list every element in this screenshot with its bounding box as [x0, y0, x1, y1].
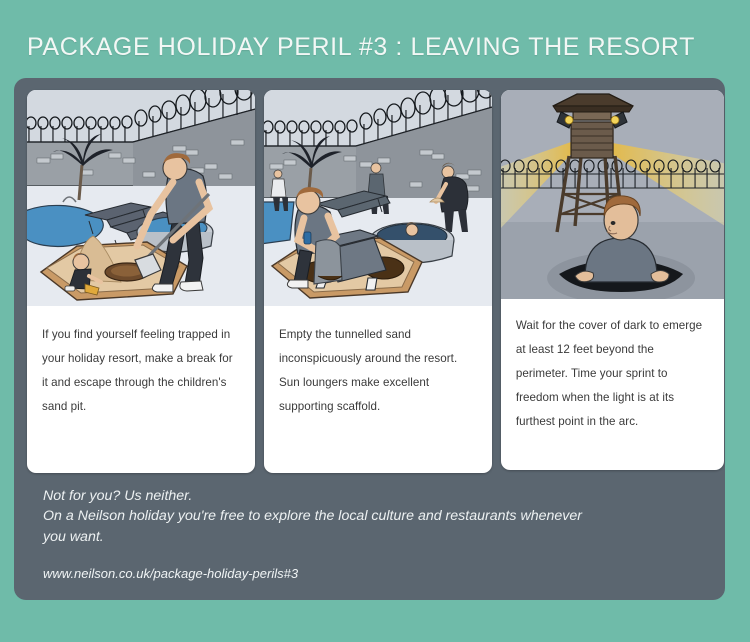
panel-cards-row: If you find yourself feeling trapped in … [27, 90, 724, 473]
card-caption: If you find yourself feeling trapped in … [27, 306, 255, 429]
illustration-emptying-tunnelled-sand-around-resort [264, 90, 492, 306]
comic-card-3[interactable]: Wait for the cover of dark to emerge at … [501, 90, 724, 470]
illustration-digging-escape-tunnel-in-sandpit [27, 90, 255, 306]
footer-line-3: you want. [43, 527, 703, 547]
comic-card-1[interactable]: If you find yourself feeling trapped in … [27, 90, 255, 473]
content-panel: If you find yourself feeling trapped in … [14, 78, 725, 600]
footer-block: Not for you? Us neither. On a Neilson ho… [43, 486, 703, 581]
footer-line-1: Not for you? Us neither. [43, 486, 703, 506]
page-title: PACKAGE HOLIDAY PERIL #3 : LEAVING THE R… [27, 33, 695, 62]
footer-url[interactable]: www.neilson.co.uk/package-holiday-perils… [43, 566, 703, 581]
infographic-root: PACKAGE HOLIDAY PERIL #3 : LEAVING THE R… [0, 0, 750, 642]
footer-line-2: On a Neilson holiday you're free to expl… [43, 506, 703, 526]
comic-card-2[interactable]: Empty the tunnelled sand inconspicuously… [264, 90, 492, 473]
card-caption: Empty the tunnelled sand inconspicuously… [264, 306, 492, 429]
card-caption: Wait for the cover of dark to emerge at … [501, 299, 724, 443]
illustration-emerging-beyond-perimeter-at-night [501, 90, 724, 299]
